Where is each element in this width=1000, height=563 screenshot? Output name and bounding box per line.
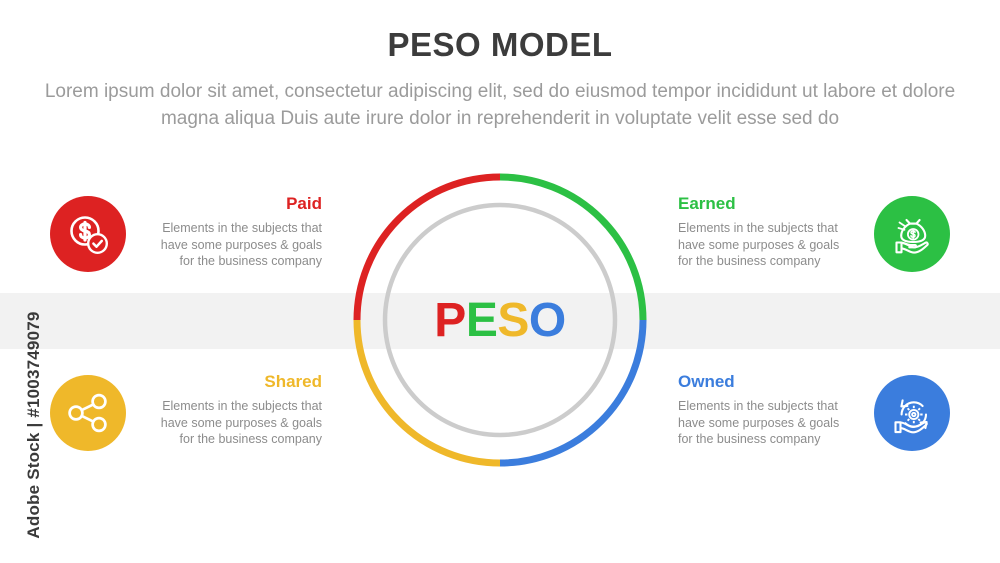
earned-icon-badge[interactable]	[874, 196, 950, 272]
peso-letter-e: E	[466, 293, 498, 348]
shared-heading: Shared	[142, 371, 322, 393]
owned-heading: Owned	[678, 371, 858, 393]
peso-letter-o: O	[529, 293, 566, 348]
hand-gear-refresh-icon	[887, 388, 937, 438]
peso-letter-s: S	[497, 293, 529, 348]
page-subtitle: Lorem ipsum dolor sit amet, consectetur …	[40, 78, 960, 132]
earned-heading: Earned	[678, 193, 858, 215]
peso-wordmark: PESO	[350, 170, 650, 470]
paid-text-block: Paid Elements in the subjects that have …	[142, 193, 322, 270]
paid-description: Elements in the subjects that have some …	[142, 220, 322, 270]
infographic-canvas: Adobe Stock | #1003749079 PESO MODEL Lor…	[0, 0, 1000, 563]
peso-ring-diagram: PESO	[350, 170, 650, 470]
page-title: PESO MODEL	[0, 26, 1000, 64]
owned-description: Elements in the subjects that have some …	[678, 398, 858, 448]
earned-description: Elements in the subjects that have some …	[678, 220, 858, 270]
stock-watermark: Adobe Stock | #1003749079	[21, 285, 47, 563]
dollar-coin-check-icon	[64, 210, 112, 258]
hand-money-bag-icon	[887, 209, 937, 259]
earned-text-block: Earned Elements in the subjects that hav…	[678, 193, 858, 270]
paid-heading: Paid	[142, 193, 322, 215]
owned-text-block: Owned Elements in the subjects that have…	[678, 371, 858, 448]
paid-icon-badge[interactable]	[50, 196, 126, 272]
shared-description: Elements in the subjects that have some …	[142, 398, 322, 448]
peso-letter-p: P	[434, 293, 466, 348]
owned-icon-badge[interactable]	[874, 375, 950, 451]
share-network-icon	[65, 390, 111, 436]
shared-text-block: Shared Elements in the subjects that hav…	[142, 371, 322, 448]
shared-icon-badge[interactable]	[50, 375, 126, 451]
